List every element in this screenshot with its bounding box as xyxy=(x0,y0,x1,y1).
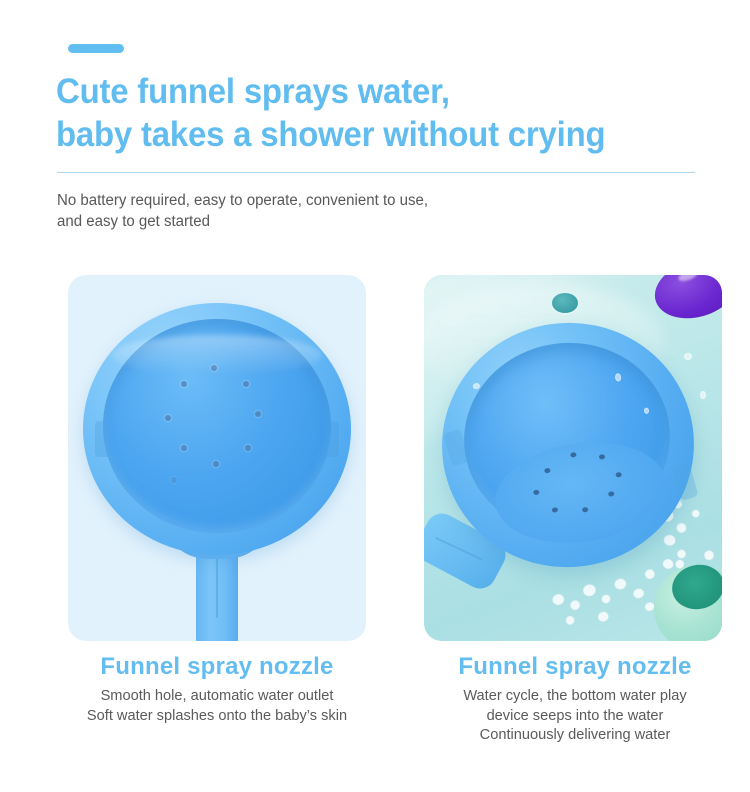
funnel-bowl-interior xyxy=(452,330,682,547)
spray-hole xyxy=(245,445,251,451)
product-card-left xyxy=(68,275,366,641)
caption-line: Soft water splashes onto the baby’s skin xyxy=(10,707,424,727)
foam-bubble xyxy=(644,568,656,580)
headline-line-2: baby takes a shower without crying xyxy=(56,113,676,156)
product-image-row xyxy=(0,275,750,641)
water-droplet xyxy=(684,353,692,360)
foam-bubble xyxy=(565,615,576,626)
foam-bubble xyxy=(597,611,610,623)
spray-hole xyxy=(243,381,249,387)
caption-right: Funnel spray nozzle Water cycle, the bot… xyxy=(400,652,750,746)
foam-bubble xyxy=(582,583,598,598)
purple-toy xyxy=(648,275,722,327)
spray-hole xyxy=(171,477,177,483)
spray-hole xyxy=(255,411,261,417)
caption-line: device seeps into the water xyxy=(400,707,750,727)
funnel-rim-notch-right xyxy=(672,463,699,501)
caption-line: Water cycle, the bottom water play xyxy=(400,687,750,707)
foam-bubble xyxy=(601,594,612,605)
spray-hole xyxy=(181,445,187,451)
foam-bubble xyxy=(551,593,565,607)
foam-bubble xyxy=(569,599,581,611)
spray-hole xyxy=(165,415,171,421)
tub-drain-hole xyxy=(552,293,578,313)
funnel-bowl-floor xyxy=(489,432,673,553)
bathtub-water-scene xyxy=(424,275,722,641)
funnel-rim-highlight xyxy=(112,335,322,375)
spray-hole xyxy=(181,381,187,387)
page-subtitle: No battery required, easy to operate, co… xyxy=(57,190,678,232)
product-card-right xyxy=(424,275,722,641)
foam-bubble xyxy=(691,509,700,518)
funnel-bowl xyxy=(83,303,351,555)
caption-left: Funnel spray nozzle Smooth hole, automat… xyxy=(10,652,424,726)
accent-bar xyxy=(68,44,124,53)
header-divider xyxy=(57,172,695,173)
foam-bubble xyxy=(703,549,715,561)
subtitle-line-1: No battery required, easy to operate, co… xyxy=(57,192,428,209)
water-droplet xyxy=(700,391,706,399)
spray-hole xyxy=(213,461,219,467)
foam-bubble xyxy=(632,587,645,599)
foam-bubble xyxy=(613,577,627,591)
caption-line: Smooth hole, automatic water outlet xyxy=(10,687,424,707)
caption-title: Funnel spray nozzle xyxy=(400,652,750,682)
page-headline: Cute funnel sprays water, baby takes a s… xyxy=(56,70,676,156)
caption-description: Water cycle, the bottom water play devic… xyxy=(400,687,750,746)
headline-line-1: Cute funnel sprays water, xyxy=(56,72,450,111)
caption-title: Funnel spray nozzle xyxy=(10,652,424,682)
product-feature-page: Cute funnel sprays water, baby takes a s… xyxy=(0,0,750,792)
caption-line: Continuously delivering water xyxy=(400,726,750,746)
caption-description: Smooth hole, automatic water outlet Soft… xyxy=(10,687,424,726)
funnel-illustration-plain xyxy=(68,275,366,641)
subtitle-line-2: and easy to get started xyxy=(57,211,678,232)
